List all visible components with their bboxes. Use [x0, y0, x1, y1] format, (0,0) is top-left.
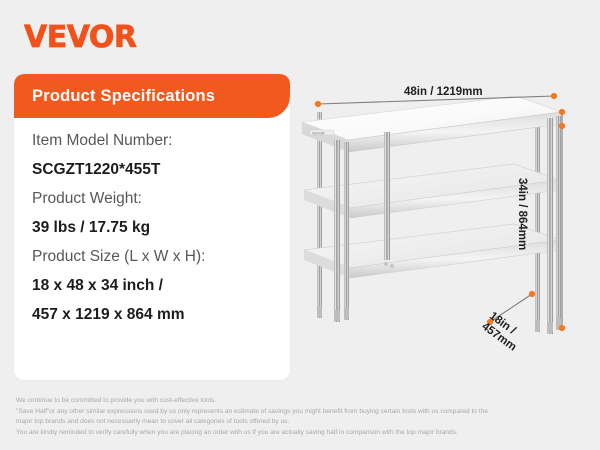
footer-line-1: We continue to be committed to provide y…: [16, 396, 588, 407]
spec-label-size: Product Size (L x W x H):: [32, 242, 272, 271]
card-header: Product Specifications: [14, 74, 290, 118]
spec-value-size-mm: 457 x 1219 x 864 mm: [32, 300, 272, 329]
spec-value-weight: 39 lbs / 17.75 kg: [32, 213, 272, 242]
card-header-title: Product Specifications: [14, 87, 215, 106]
footer-disclaimer: We continue to be committed to provide y…: [16, 396, 588, 438]
spec-value-size-inch: 18 x 48 x 34 inch /: [32, 271, 272, 300]
spec-value-model: SCGZT1220*455T: [32, 155, 272, 184]
work-table-illustration: VEVOR: [292, 82, 592, 382]
product-image: VEVOR: [292, 82, 592, 382]
vevor-logo: VEVOR: [24, 20, 137, 55]
spec-label-model: Item Model Number:: [32, 126, 272, 155]
footer-line-2: "Save Half"or any other similar expressi…: [16, 407, 588, 418]
footer-line-4: You are kindly reminded to verify carefu…: [16, 428, 588, 439]
product-badge-label: VEVOR: [312, 131, 325, 135]
product-specifications-card: Product Specifications Item Model Number…: [14, 74, 290, 380]
spec-list: Item Model Number: SCGZT1220*455T Produc…: [14, 126, 290, 329]
dimension-label-length: 48in / 1219mm: [404, 86, 483, 98]
spec-label-weight: Product Weight:: [32, 184, 272, 213]
table-top: VEVOR: [302, 96, 562, 152]
dimension-label-height: 34in / 864mm: [516, 178, 528, 250]
footer-line-3: major top brands and does not necessaril…: [16, 417, 588, 428]
